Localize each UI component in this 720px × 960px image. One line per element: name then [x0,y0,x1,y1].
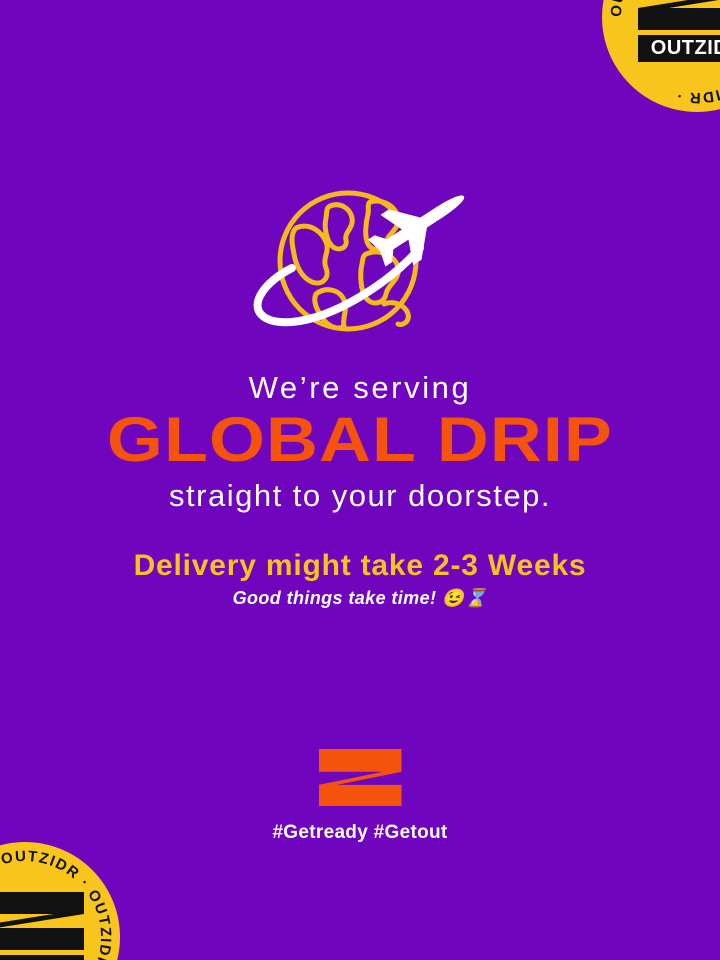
brand-footer: #Getready #Getout [0,749,720,844]
subheadline-text: straight to your doorstep. [0,478,720,514]
eyebrow-text: We’re serving [0,370,720,406]
globe-airplane-icon [238,176,488,346]
brand-stamp-badge-bottom-left: OUTZIDR · OUTZIDR · OUTZIDR · OUTZIDR · … [0,842,120,960]
badge-core: OUTZIDR [638,0,720,62]
badge-wordmark: OUTZIDR [0,955,84,960]
badge-core: OUTZIDR [0,892,84,960]
hashtags-text: #Getready #Getout [0,822,720,844]
badge-wordmark: OUTZIDR [638,35,720,62]
outzidr-z-logo-icon [319,749,402,806]
outzidr-z-emblem-icon [0,892,84,950]
page-title: GLOBAL DRIP [0,407,720,473]
brand-stamp-badge-top-right: OUTZIDR · OUTZIDR · OUTZIDR · OUTZIDR · … [602,0,720,112]
promo-poster: OUTZIDR · OUTZIDR · OUTZIDR · OUTZIDR · … [0,0,720,960]
outzidr-z-emblem-icon [638,0,720,30]
reassurance-text: Good things take time! 😉⌛ [0,588,720,609]
delivery-notice-text: Delivery might take 2-3 Weeks [0,549,720,583]
